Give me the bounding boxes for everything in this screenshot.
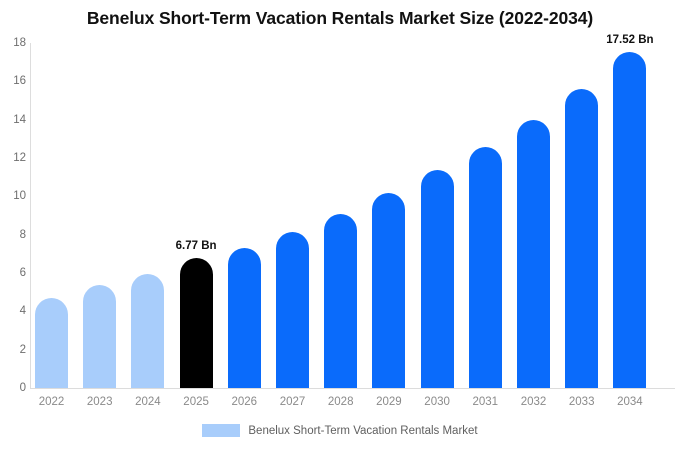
bar-value-label-2025: 6.77 Bn [176, 240, 217, 252]
bar-2026[interactable] [228, 248, 261, 388]
bar-2029[interactable] [372, 193, 405, 388]
bar-2022[interactable] [35, 298, 68, 388]
bar-2031[interactable] [469, 147, 502, 388]
chart-title: Benelux Short-Term Vacation Rentals Mark… [0, 8, 680, 29]
bar-2032[interactable] [517, 120, 550, 388]
bar-value-label-2034: 17.52 Bn [606, 34, 653, 46]
bar-2027[interactable] [276, 232, 309, 388]
x-axis-tick-2028: 2028 [317, 396, 365, 408]
bar-2023[interactable] [83, 285, 116, 388]
x-axis-tick-2030: 2030 [413, 396, 461, 408]
bar-2034[interactable] [613, 52, 646, 388]
legend-swatch-0 [202, 424, 240, 437]
chart-legend: Benelux Short-Term Vacation Rentals Mark… [0, 424, 680, 437]
bar-2033[interactable] [565, 89, 598, 388]
chart-container: Benelux Short-Term Vacation Rentals Mark… [0, 0, 680, 450]
bar-2025[interactable] [180, 258, 213, 388]
x-axis-tick-2025: 2025 [172, 396, 220, 408]
bar-series [0, 43, 680, 388]
x-axis-tick-2034: 2034 [606, 396, 654, 408]
x-axis-tick-2033: 2033 [558, 396, 606, 408]
x-axis-tick-2031: 2031 [461, 396, 509, 408]
bar-2024[interactable] [131, 274, 164, 388]
x-axis-tick-2029: 2029 [365, 396, 413, 408]
x-axis-tick-2032: 2032 [510, 396, 558, 408]
x-axis-tick-2026: 2026 [220, 396, 268, 408]
x-axis-tick-2023: 2023 [76, 396, 124, 408]
x-axis-tick-2024: 2024 [124, 396, 172, 408]
bar-2030[interactable] [421, 170, 454, 389]
bar-2028[interactable] [324, 214, 357, 388]
x-axis-tick-2027: 2027 [269, 396, 317, 408]
x-axis-tick-2022: 2022 [28, 396, 76, 408]
legend-label-0[interactable]: Benelux Short-Term Vacation Rentals Mark… [248, 425, 477, 437]
x-axis-line [30, 388, 675, 389]
